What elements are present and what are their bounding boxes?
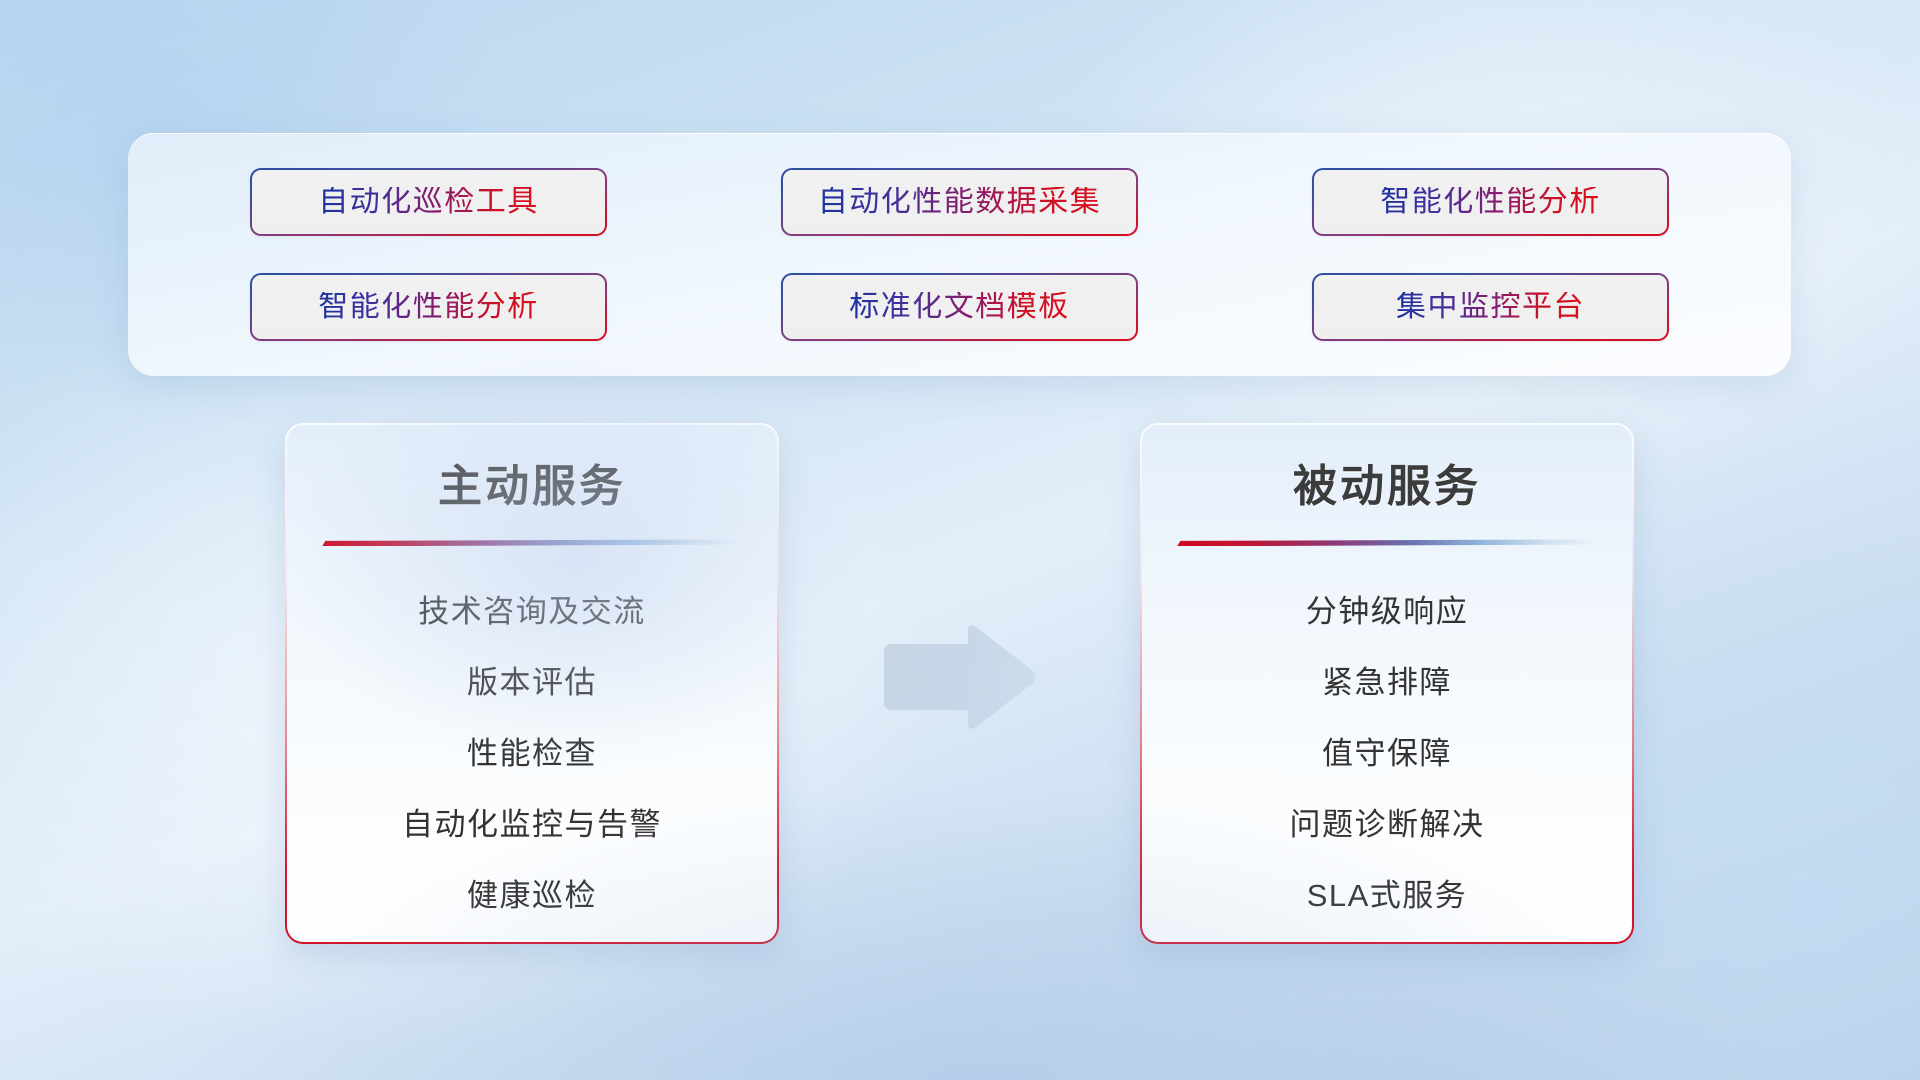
capability-tag[interactable]: 集中监控平台 bbox=[1312, 273, 1669, 341]
capability-tag[interactable]: 智能化性能分析 bbox=[250, 273, 607, 341]
service-card-reactive[interactable]: 被动服务 分钟级响应 紧急排障 值守保障 问题诊断解决 SLA式服务 bbox=[1140, 423, 1634, 944]
card-title: 主动服务 bbox=[287, 463, 777, 511]
capability-tag-label: 自动化性能数据采集 bbox=[818, 187, 1102, 217]
list-item[interactable]: 技术咨询及交流 bbox=[418, 576, 646, 647]
capability-tag-label: 智能化性能分析 bbox=[318, 292, 539, 322]
card-divider bbox=[1177, 539, 1597, 546]
card-title: 被动服务 bbox=[1142, 463, 1632, 511]
capability-tag-label: 集中监控平台 bbox=[1396, 292, 1585, 322]
capability-tag[interactable]: 智能化性能分析 bbox=[1312, 168, 1669, 236]
capability-tag[interactable]: 标准化文档模板 bbox=[781, 273, 1138, 341]
list-item[interactable]: 紧急排障 bbox=[1322, 647, 1452, 718]
capability-tag-label: 标准化文档模板 bbox=[849, 292, 1070, 322]
list-item[interactable]: 健康巡检 bbox=[467, 860, 597, 931]
capability-tag-label: 智能化性能分析 bbox=[1380, 187, 1601, 217]
capability-tag[interactable]: 自动化性能数据采集 bbox=[781, 168, 1138, 236]
list-item[interactable]: 值守保障 bbox=[1322, 718, 1452, 789]
capabilities-panel: 自动化巡检工具 自动化性能数据采集 智能化性能分析 智能化性能分析 标准化文档模… bbox=[128, 133, 1791, 376]
slide-canvas: 自动化巡检工具 自动化性能数据采集 智能化性能分析 智能化性能分析 标准化文档模… bbox=[0, 0, 1920, 1080]
card-item-list: 分钟级响应 紧急排障 值守保障 问题诊断解决 SLA式服务 bbox=[1142, 576, 1632, 931]
service-card-proactive[interactable]: 主动服务 技术咨询及交流 版本评估 性能检查 自动化监控与告警 健康巡检 bbox=[285, 423, 779, 944]
card-item-list: 技术咨询及交流 版本评估 性能检查 自动化监控与告警 健康巡检 bbox=[287, 576, 777, 931]
list-item[interactable]: 版本评估 bbox=[467, 647, 597, 718]
capability-tag[interactable]: 自动化巡检工具 bbox=[250, 168, 607, 236]
arrow-right-icon bbox=[876, 622, 1038, 732]
list-item[interactable]: 自动化监控与告警 bbox=[402, 789, 662, 860]
capability-tag-grid: 自动化巡检工具 自动化性能数据采集 智能化性能分析 智能化性能分析 标准化文档模… bbox=[128, 133, 1791, 376]
list-item[interactable]: SLA式服务 bbox=[1307, 860, 1468, 931]
capability-tag-label: 自动化巡检工具 bbox=[318, 187, 539, 217]
card-divider bbox=[322, 539, 742, 546]
list-item[interactable]: 性能检查 bbox=[467, 718, 597, 789]
list-item[interactable]: 问题诊断解决 bbox=[1290, 789, 1485, 860]
list-item[interactable]: 分钟级响应 bbox=[1306, 576, 1469, 647]
